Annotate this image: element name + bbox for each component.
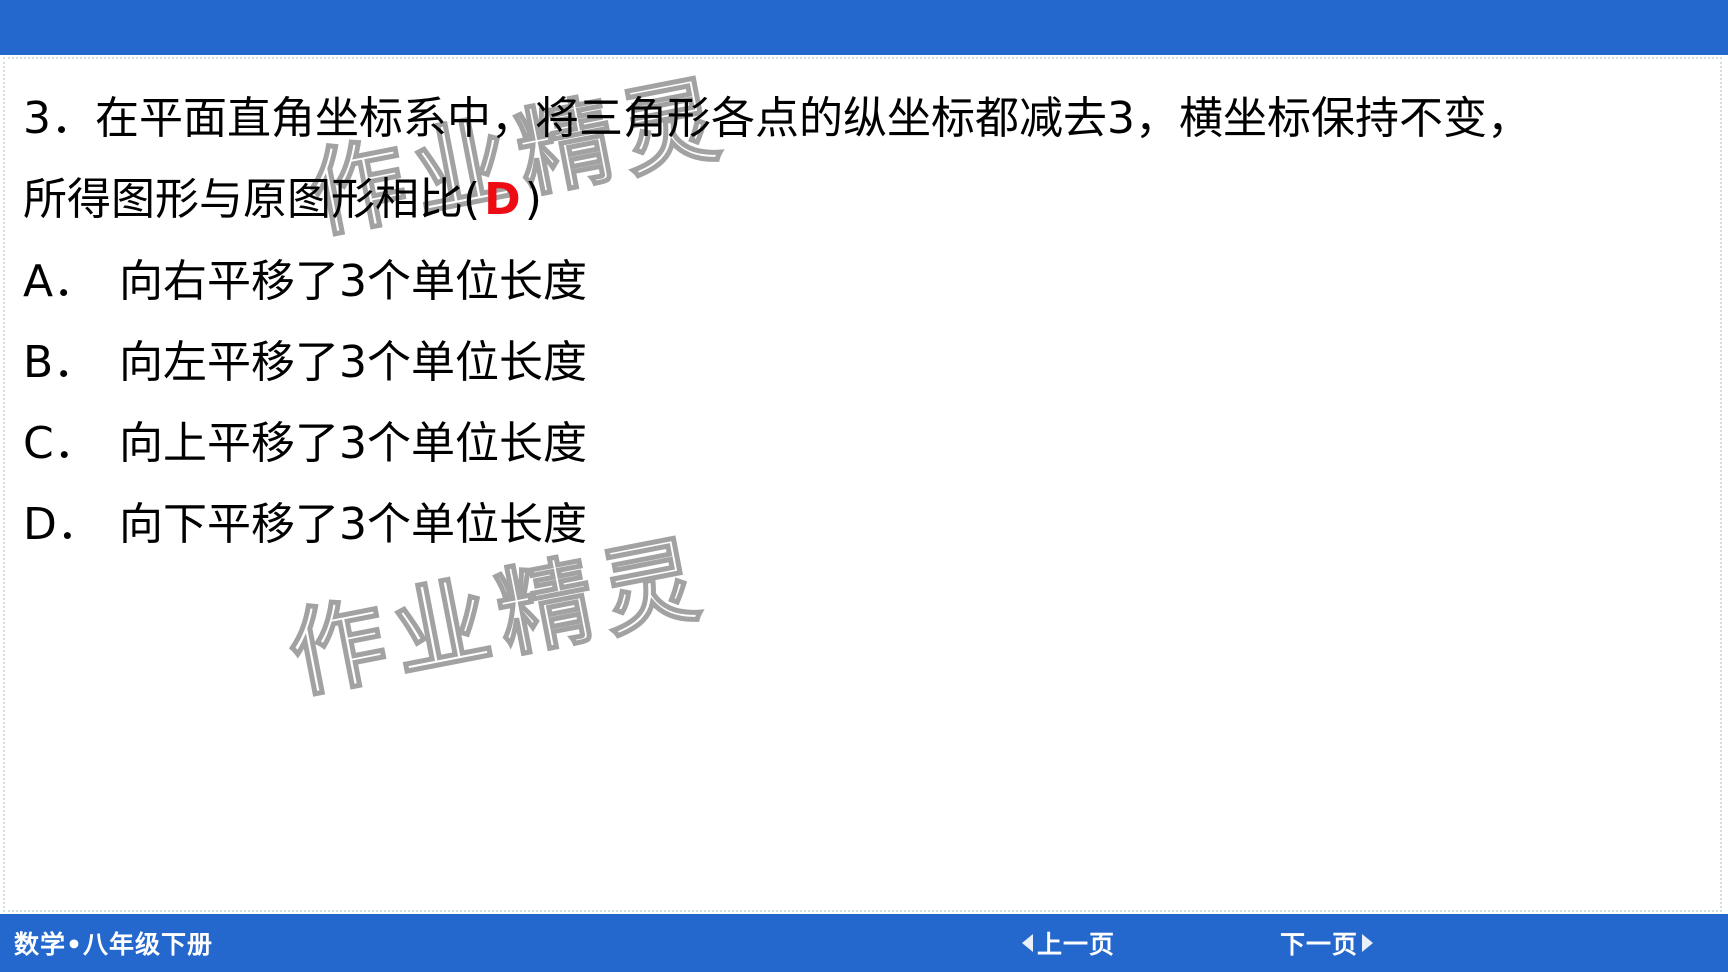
question-stem-line-2: 所得图形与原图形相比(D) [23,159,1713,241]
option-c-text: 向上平移了3个单位长度 [119,418,587,469]
question-stem-line-1: 3．在平面直角坐标系中，将三角形各点的纵坐标都减去3，横坐标保持不变， [23,79,1713,159]
option-d-label: D． [23,484,119,565]
option-d-text: 向下平移了3个单位长度 [119,499,587,550]
question-stem-line-2-prefix: 所得图形与原图形相比( [23,174,480,225]
option-b[interactable]: B．向左平移了3个单位长度 [23,322,1713,403]
option-a-label: A． [23,241,119,322]
answer-key: D [480,174,525,225]
question-stem-line-2-suffix: ) [525,174,542,225]
footer-bar: 数学•八年级下册 上一页 下一页 [0,914,1728,972]
next-page-button[interactable]: 下一页 [1280,925,1373,961]
option-c[interactable]: C．向上平移了3个单位长度 [23,403,1713,484]
chevron-left-icon [1022,934,1033,952]
question-area: 3．在平面直角坐标系中，将三角形各点的纵坐标都减去3，横坐标保持不变， 所得图形… [23,79,1713,565]
option-b-label: B． [23,322,119,403]
prev-page-button[interactable]: 上一页 [1022,925,1115,961]
chevron-right-icon [1362,934,1373,952]
next-page-label: 下一页 [1280,925,1358,961]
top-blue-band [0,0,1728,55]
slide-content-frame: 作业精灵 作业精灵 3．在平面直角坐标系中，将三角形各点的纵坐标都减去3，横坐标… [3,57,1722,912]
option-b-text: 向左平移了3个单位长度 [119,337,587,388]
option-c-label: C． [23,403,119,484]
option-a[interactable]: A．向右平移了3个单位长度 [23,241,1713,322]
footer-book-title: 数学•八年级下册 [14,925,213,961]
prev-page-label: 上一页 [1037,925,1115,961]
option-d[interactable]: D．向下平移了3个单位长度 [23,484,1713,565]
option-a-text: 向右平移了3个单位长度 [119,256,587,307]
